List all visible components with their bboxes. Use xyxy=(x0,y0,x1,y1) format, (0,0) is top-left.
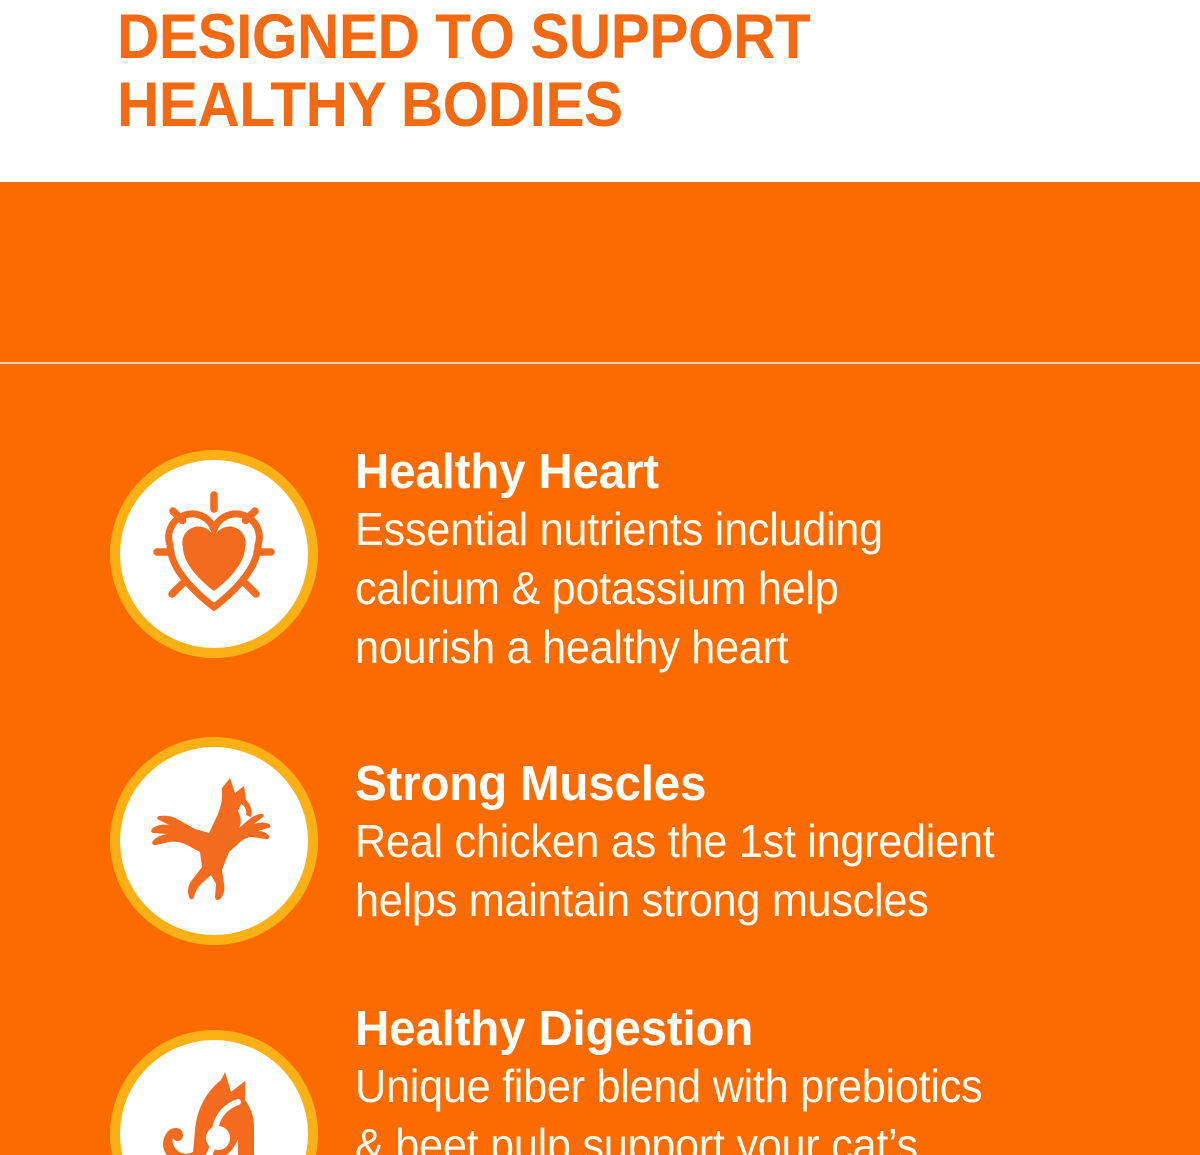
benefit-title: Strong Muscles xyxy=(355,756,1141,812)
sitting-cat-digestion-icon xyxy=(110,1030,318,1155)
benefit-title: Healthy Heart xyxy=(355,444,1141,500)
benefit-text-block: Healthy Digestion Unique fiber blend wit… xyxy=(355,1001,1165,1155)
header-band: DESIGNED TO SUPPORT HEALTHY BODIES xyxy=(0,0,1200,182)
page-title: DESIGNED TO SUPPORT HEALTHY BODIES xyxy=(117,3,1066,139)
benefit-description: Unique fiber blend with prebiotics & bee… xyxy=(355,1057,1116,1155)
benefit-text-block: Strong Muscles Real chicken as the 1st i… xyxy=(355,756,1165,930)
promo-banner: DESIGNED TO SUPPORT HEALTHY BODIES xyxy=(0,0,1200,1155)
benefit-title: Healthy Digestion xyxy=(355,1001,1141,1057)
benefit-description: Real chicken as the 1st ingredient helps… xyxy=(355,812,1116,930)
benefits-panel: Healthy Heart Essential nutrients includ… xyxy=(0,182,1200,1155)
leaping-cat-icon xyxy=(110,737,318,945)
panel-divider xyxy=(0,362,1200,364)
benefit-description: Essential nutrients including calcium & … xyxy=(355,500,1116,677)
radiant-heart-icon xyxy=(110,450,318,658)
benefit-text-block: Healthy Heart Essential nutrients includ… xyxy=(355,444,1165,677)
